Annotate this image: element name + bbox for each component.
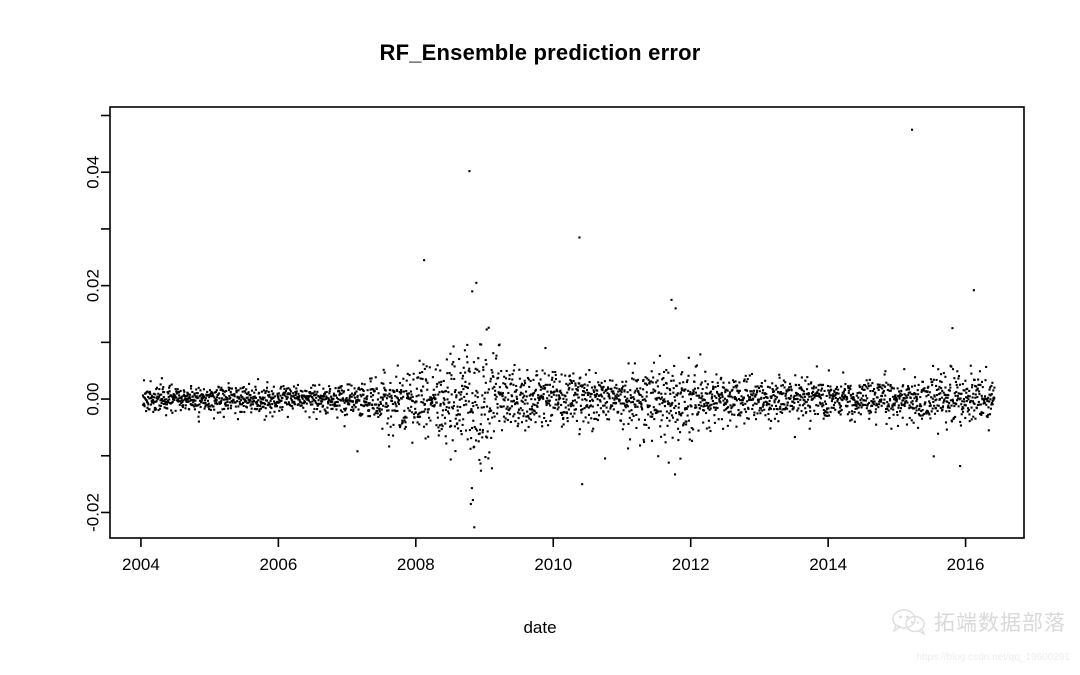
svg-text:2012: 2012	[672, 555, 710, 574]
svg-text:0.02: 0.02	[83, 269, 102, 302]
watermark-brand-text: 拓端数据部落	[934, 607, 1066, 637]
wechat-icon	[892, 609, 926, 635]
svg-text:2008: 2008	[397, 555, 435, 574]
tick-labels-layer: -0.020.000.020.0420042006200820102012201…	[83, 156, 984, 574]
svg-text:2004: 2004	[122, 555, 160, 574]
svg-text:-0.02: -0.02	[83, 493, 102, 532]
scatter-points-layer	[142, 129, 996, 529]
svg-text:2014: 2014	[809, 555, 847, 574]
watermark-url: https://blog.csdn.net/qq_19600291	[917, 652, 1070, 663]
watermark: 拓端数据部落	[892, 607, 1066, 637]
svg-text:0.04: 0.04	[83, 156, 102, 189]
svg-text:2016: 2016	[947, 555, 985, 574]
svg-text:2010: 2010	[534, 555, 572, 574]
svg-text:0.00: 0.00	[83, 383, 102, 416]
plot-axes	[101, 107, 1024, 547]
svg-text:2006: 2006	[259, 555, 297, 574]
chart-container: RF_Ensemble prediction error -0.020.000.…	[0, 0, 1080, 675]
scatter-plot-canvas: -0.020.000.020.0420042006200820102012201…	[0, 0, 1080, 675]
